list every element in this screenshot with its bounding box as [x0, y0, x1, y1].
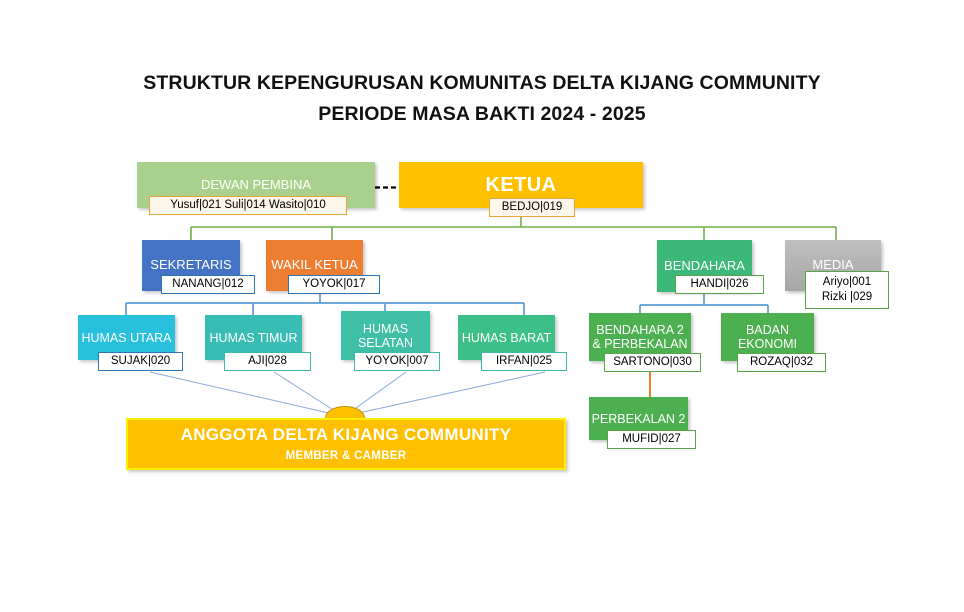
tag-badan-ekonomi[interactable]: ROZAQ|032 [737, 353, 826, 372]
tag-text-humas-barat: IRFAN|025 [496, 354, 552, 369]
tag-text-humas-utara: SUJAK|020 [111, 354, 170, 369]
tag-dewan-pembina[interactable]: Yusuf|021 Suli|014 Wasito|010 [149, 196, 347, 215]
tag-perbekalan-2[interactable]: MUFID|027 [607, 430, 696, 449]
tag-ketua[interactable]: BEDJO|019 [489, 198, 575, 217]
edge-selatan-anggota [349, 372, 406, 413]
tag-text-sekretaris: NANANG|012 [172, 277, 243, 292]
node-label-humas-selatan: HUMAS SELATAN [341, 322, 430, 350]
tag-humas-barat[interactable]: IRFAN|025 [481, 352, 567, 371]
tag-media[interactable]: Ariyo|001 Rizki |029 [805, 271, 889, 309]
tag-humas-selatan[interactable]: YOYOK|007 [354, 352, 440, 371]
tag-text-badan-ekonomi: ROZAQ|032 [750, 355, 813, 370]
tag-text-ketua: BEDJO|019 [502, 200, 563, 215]
tag-bendahara-2-perbekalan[interactable]: SARTONO|030 [604, 353, 701, 372]
node-label-humas-timur: HUMAS TIMUR [210, 331, 298, 345]
node-sublabel-anggota: MEMBER & CAMBER [286, 450, 407, 463]
tag-text-humas-timur: AJI|028 [248, 354, 287, 369]
node-anggota[interactable]: ANGGOTA DELTA KIJANG COMMUNITY MEMBER & … [126, 418, 566, 470]
node-label-ketua: KETUA [486, 174, 557, 196]
tag-text-humas-selatan: YOYOK|007 [365, 354, 428, 369]
tag-humas-utara[interactable]: SUJAK|020 [98, 352, 183, 371]
edge-timur-anggota [274, 372, 338, 413]
node-label-perbekalan-2: PERBEKALAN 2 [592, 412, 686, 426]
tag-bendahara[interactable]: HANDI|026 [675, 275, 764, 294]
node-label-wakil-ketua: WAKIL KETUA [271, 258, 357, 273]
node-label-dewan-pembina: DEWAN PEMBINA [201, 178, 311, 193]
node-label-humas-utara: HUMAS UTARA [81, 331, 171, 345]
org-chart-canvas: STRUKTUR KEPENGURUSAN KOMUNITAS DELTA KI… [0, 0, 964, 612]
tag-humas-timur[interactable]: AJI|028 [224, 352, 311, 371]
tag-text-media-1: Ariyo|001 [823, 275, 871, 290]
tag-text-dewan-pembina: Yusuf|021 Suli|014 Wasito|010 [170, 198, 326, 213]
page-title: STRUKTUR KEPENGURUSAN KOMUNITAS DELTA KI… [0, 68, 964, 130]
tag-text-media-2: Rizki |029 [822, 290, 872, 305]
node-label-sekretaris: SEKRETARIS [150, 258, 231, 273]
edge-barat-anggota [354, 372, 545, 414]
node-label-humas-barat: HUMAS BARAT [462, 331, 551, 345]
title-line-1: STRUKTUR KEPENGURUSAN KOMUNITAS DELTA KI… [143, 72, 820, 94]
tag-sekretaris[interactable]: NANANG|012 [161, 275, 255, 294]
node-label-anggota: ANGGOTA DELTA KIJANG COMMUNITY [181, 425, 512, 444]
node-label-bendahara: BENDAHARA [664, 259, 745, 274]
node-label-bendahara-2-perbekalan: BENDAHARA 2 & PERBEKALAN [591, 323, 689, 351]
tag-text-bendahara: HANDI|026 [691, 277, 749, 292]
node-label-badan-ekonomi: BADAN EKONOMI [721, 323, 814, 351]
tag-wakil-ketua[interactable]: YOYOK|017 [288, 275, 380, 294]
tag-text-wakil-ketua: YOYOK|017 [302, 277, 365, 292]
tag-text-bendahara-2-perbekalan: SARTONO|030 [613, 355, 692, 370]
title-line-2: PERIODE MASA BAKTI 2024 - 2025 [0, 99, 964, 130]
edge-utara-anggota [150, 372, 333, 414]
tag-text-perbekalan-2: MUFID|027 [622, 432, 681, 447]
